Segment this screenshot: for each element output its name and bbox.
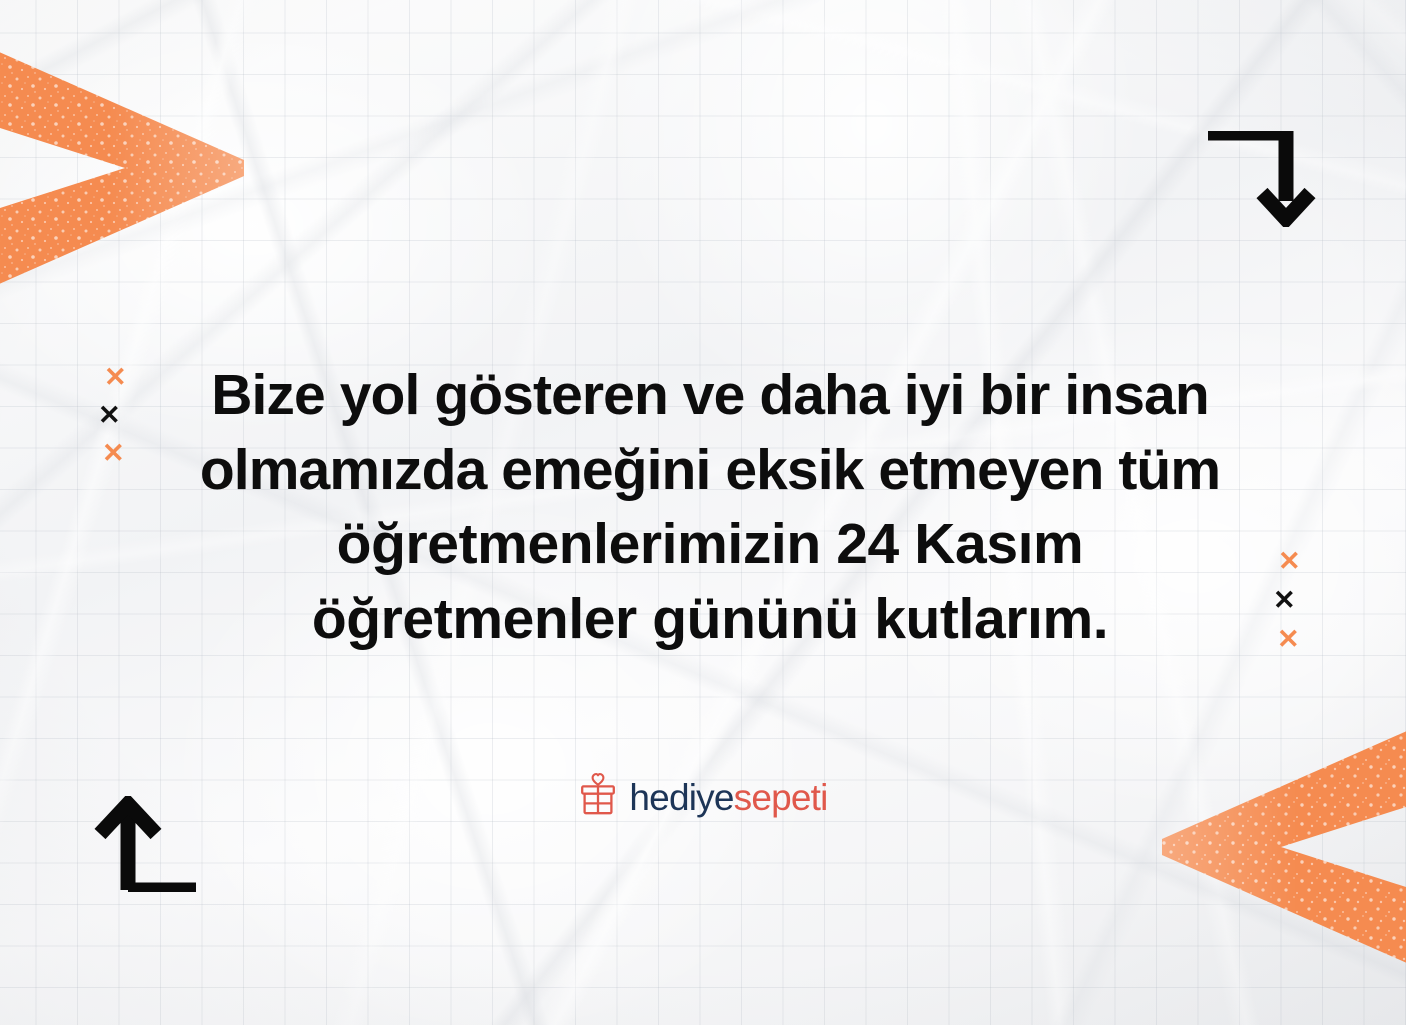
brand-wordmark: hediyesepeti: [629, 779, 827, 816]
x-mark-icon: ✕: [1277, 626, 1300, 653]
x-mark-icon: ✕: [104, 364, 127, 391]
brand-word-primary: hediye: [629, 777, 733, 818]
brand-word-secondary: sepeti: [734, 777, 828, 818]
x-marks-right-cluster: ✕ ✕ ✕: [1272, 548, 1332, 660]
x-mark-icon: ✕: [1278, 548, 1301, 575]
x-mark-icon: ✕: [98, 402, 121, 429]
headline-line-1: Bize yol gösteren ve daha iyi bir insan: [140, 358, 1280, 433]
headline-line-2: olmamızda emeğini eksik etmeyen tüm: [140, 433, 1280, 508]
headline-line-3: öğretmenlerimizin 24 Kasım: [140, 507, 1280, 582]
gift-box-heart-icon: [578, 772, 618, 821]
poster-canvas: ✕ ✕ ✕ ✕ ✕ ✕ Bize yol gösteren ve daha iy…: [0, 0, 1406, 1025]
brand-logo: hediyesepeti: [0, 772, 1406, 821]
headline-line-4: öğretmenler gününü kutlarım.: [140, 582, 1280, 657]
x-mark-icon: ✕: [102, 440, 125, 467]
arrow-turn-down-icon: [1206, 131, 1318, 232]
headline-text: Bize yol gösteren ve daha iyi bir insan …: [140, 358, 1280, 657]
